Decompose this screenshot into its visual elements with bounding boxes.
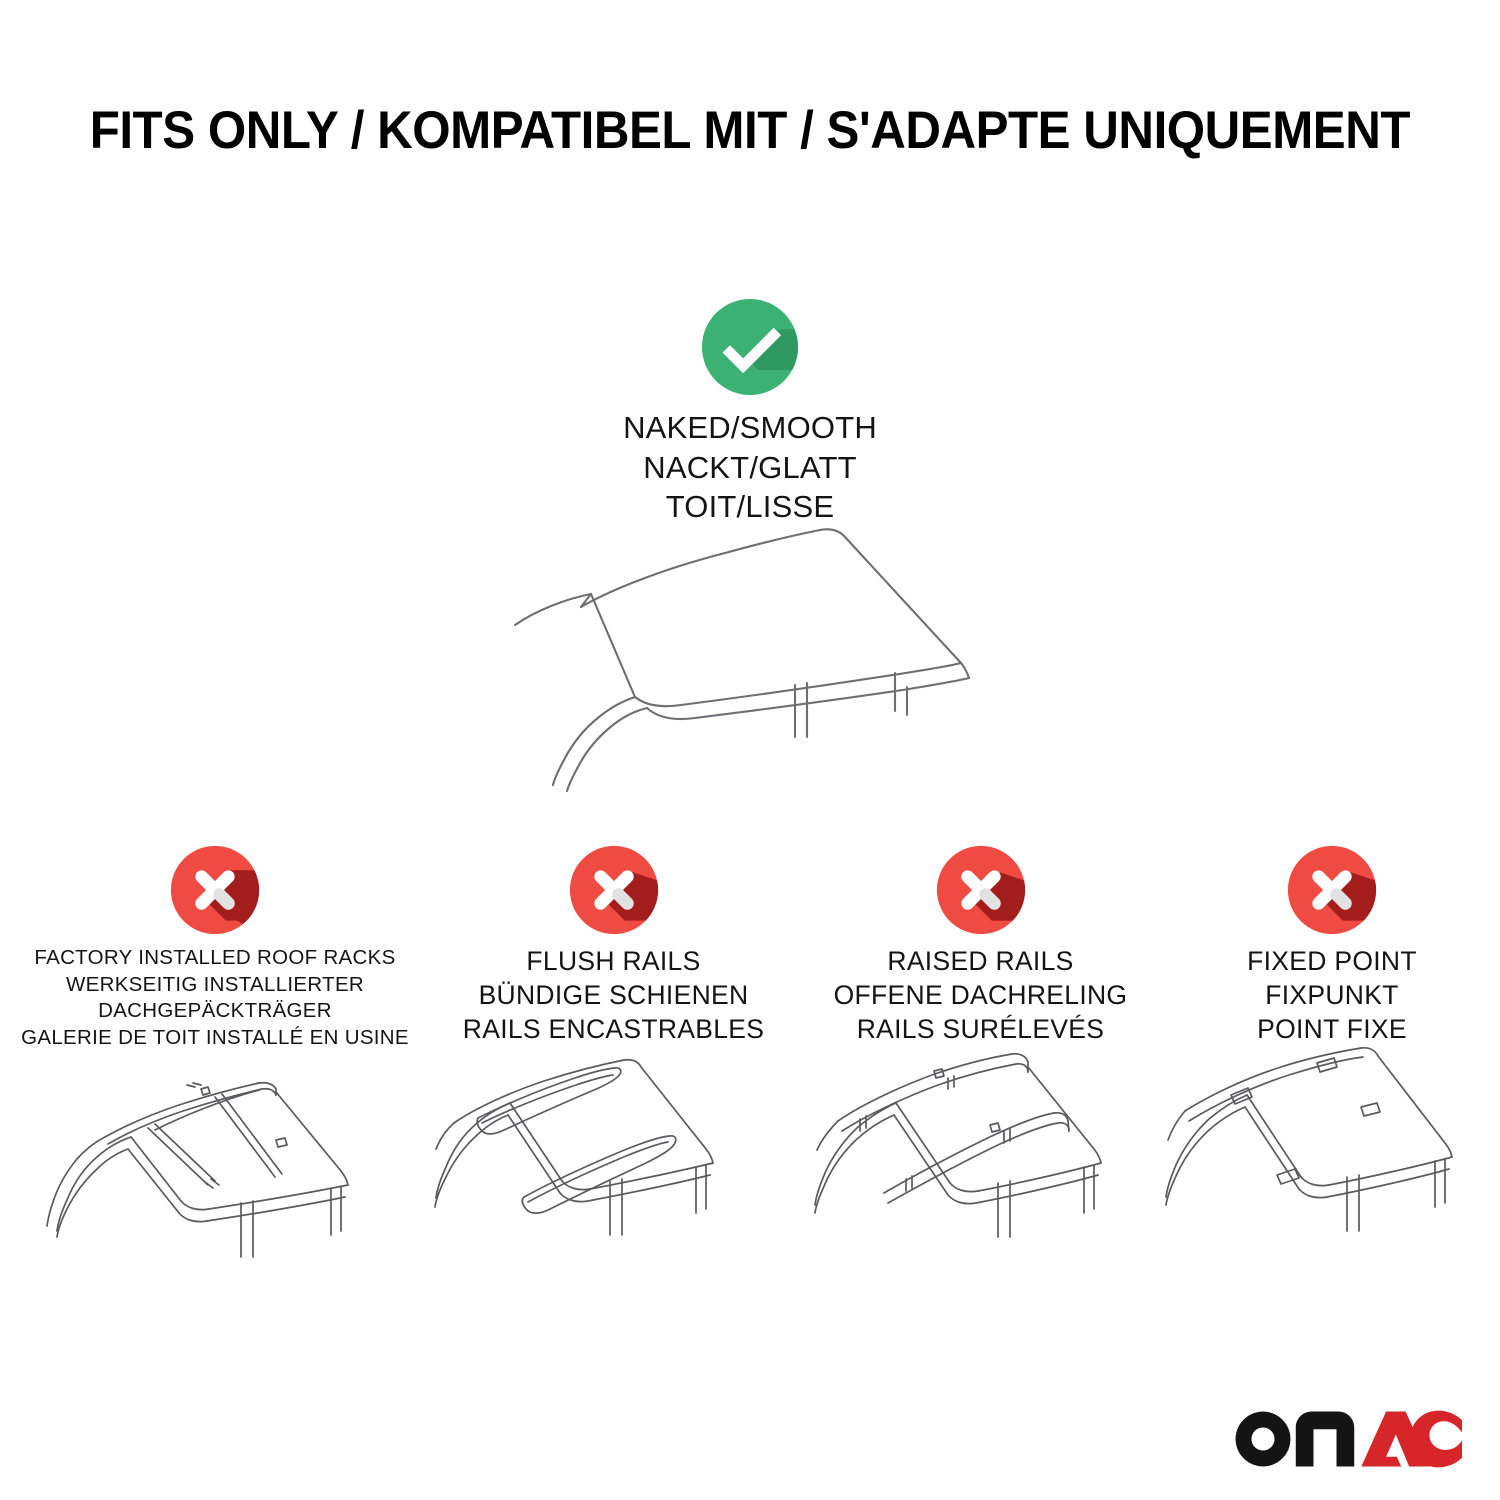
deny-label-fr: RAILS SURÉLEVÉS	[797, 1013, 1164, 1047]
cross-circle-icon	[1287, 845, 1377, 935]
cross-circle-icon	[569, 845, 659, 935]
deny-column-raised-rails: RAISED RAILS OFFENE DACHRELING RAILS SUR…	[797, 845, 1164, 1047]
car-roof-raised-rails-illustration	[808, 1045, 1188, 1305]
logo-letter-o	[1235, 1412, 1290, 1467]
deny-label-fr: RAILS ENCASTRABLES	[430, 1013, 797, 1047]
deny-column-fixed-point: FIXED POINT FIXPUNKT POINT FIXE	[1164, 845, 1500, 1047]
car-roof-flush-rails-illustration	[432, 1045, 812, 1305]
cross-circle-icon	[936, 845, 1026, 935]
deny-label-de: BÜNDIGE SCHIENEN	[430, 979, 797, 1013]
deny-label-de-1: WERKSEITIG INSTALLIERTER	[0, 972, 430, 999]
deny-label-fr: POINT FIXE	[1164, 1013, 1500, 1047]
deny-column-factory-rack: FACTORY INSTALLED ROOF RACKS WERKSEITIG …	[0, 845, 430, 1052]
check-circle-icon	[701, 298, 799, 396]
deny-label-en: FACTORY INSTALLED ROOF RACKS	[0, 945, 430, 972]
deny-label-en: FLUSH RAILS	[430, 945, 797, 979]
deny-labels-raised-rails: RAISED RAILS OFFENE DACHRELING RAILS SUR…	[797, 945, 1164, 1047]
fits-section: NAKED/SMOOTH NACKT/GLATT TOIT/LISSE	[525, 298, 975, 527]
fits-labels: NAKED/SMOOTH NACKT/GLATT TOIT/LISSE	[525, 408, 975, 527]
deny-labels-factory-rack: FACTORY INSTALLED ROOF RACKS WERKSEITIG …	[0, 945, 430, 1052]
deny-labels-flush-rails: FLUSH RAILS BÜNDIGE SCHIENEN RAILS ENCAS…	[430, 945, 797, 1047]
deny-labels-fixed-point: FIXED POINT FIXPUNKT POINT FIXE	[1164, 945, 1500, 1047]
deny-label-de-2: DACHGEPÄCKTRÄGER	[0, 998, 430, 1025]
cross-circle-icon	[170, 845, 260, 935]
car-roof-naked-smooth-illustration	[495, 515, 1015, 805]
fits-label-en: NAKED/SMOOTH	[525, 408, 975, 448]
deny-column-flush-rails: FLUSH RAILS BÜNDIGE SCHIENEN RAILS ENCAS…	[430, 845, 797, 1047]
deny-label-en: FIXED POINT	[1164, 945, 1500, 979]
deny-label-en: RAISED RAILS	[797, 945, 1164, 979]
omac-logo	[1232, 1408, 1462, 1470]
fits-label-de: NACKT/GLATT	[525, 448, 975, 488]
logo-letter-m	[1295, 1412, 1353, 1467]
car-roof-fixed-point-illustration	[1165, 1045, 1500, 1305]
deny-label-de: FIXPUNKT	[1164, 979, 1500, 1013]
page-title: FITS ONLY / KOMPATIBEL MIT / S'ADAPTE UN…	[0, 104, 1500, 157]
deny-label-de: OFFENE DACHRELING	[797, 979, 1164, 1013]
car-roof-factory-rack-illustration	[45, 1045, 425, 1305]
does-not-fit-section: FACTORY INSTALLED ROOF RACKS WERKSEITIG …	[0, 845, 1500, 1052]
page-title-text: FITS ONLY / KOMPATIBEL MIT / S'ADAPTE UN…	[90, 104, 1410, 157]
